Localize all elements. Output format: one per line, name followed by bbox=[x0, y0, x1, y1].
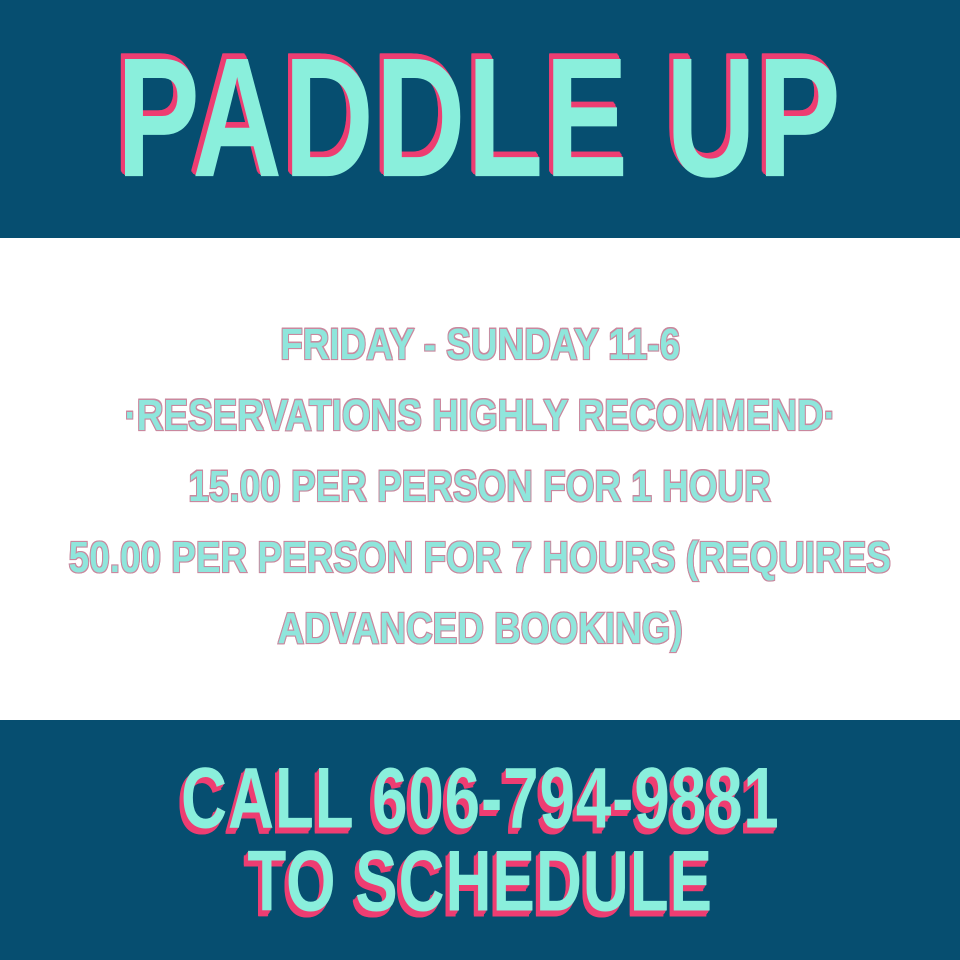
details-band: FRIDAY - SUNDAY 11-6 ·RESERVATIONS HIGHL… bbox=[0, 238, 960, 720]
page-title: PADDLE UP bbox=[117, 37, 843, 200]
details-line-price-day-part1: 50.00 PER PERSON FOR 7 HOURS (REQUIRES bbox=[69, 535, 891, 578]
details-line-reservations: ·RESERVATIONS HIGHLY RECOMMEND· bbox=[124, 393, 835, 436]
header-band: PADDLE UP bbox=[0, 0, 960, 238]
schedule-line: TO SCHEDULE bbox=[247, 836, 713, 926]
phone-call-line[interactable]: CALL 606-794-9881 bbox=[181, 753, 780, 843]
details-line-price-hourly: 15.00 PER PERSON FOR 1 HOUR bbox=[189, 464, 771, 507]
poster-canvas: PADDLE UP FRIDAY - SUNDAY 11-6 ·RESERVAT… bbox=[0, 0, 960, 960]
details-line-hours: FRIDAY - SUNDAY 11-6 bbox=[280, 322, 680, 365]
details-line-price-day-part2: ADVANCED BOOKING) bbox=[277, 606, 682, 649]
footer-band: CALL 606-794-9881 TO SCHEDULE bbox=[0, 720, 960, 960]
